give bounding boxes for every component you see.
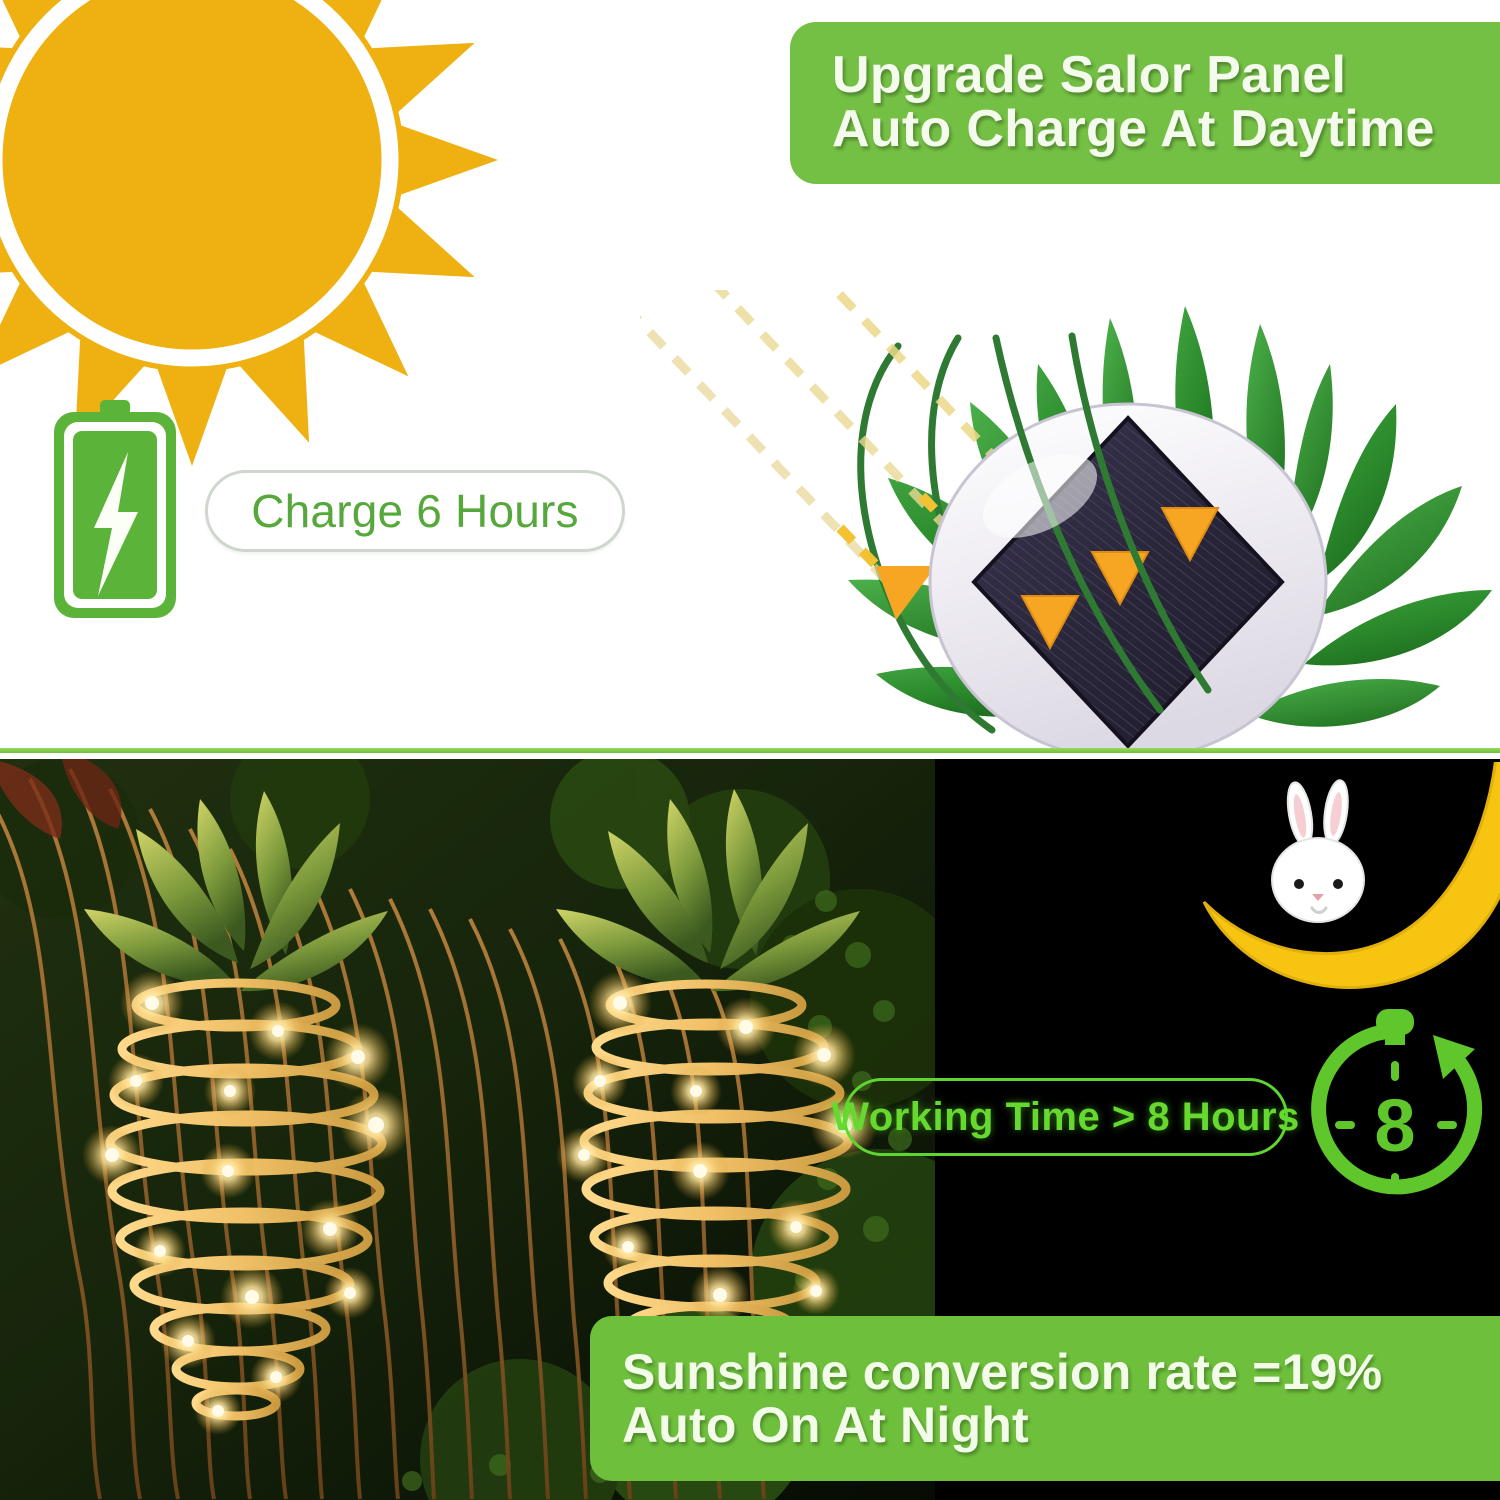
headline-line-2: Auto Charge At Daytime xyxy=(832,103,1500,157)
daytime-section: Upgrade Salor Panel Auto Charge At Dayti… xyxy=(0,0,1500,753)
battery-charging-icon xyxy=(50,400,180,622)
charge-time-badge: Charge 6 Hours xyxy=(205,470,625,552)
headline-banner: Upgrade Salor Panel Auto Charge At Dayti… xyxy=(790,22,1500,184)
footer-line-2: Auto On At Night xyxy=(622,1399,1500,1452)
headline-line-1: Upgrade Salor Panel xyxy=(832,49,1500,103)
charge-time-label: Charge 6 Hours xyxy=(251,484,579,538)
stopwatch-icon: 8 xyxy=(1293,1005,1498,1230)
solar-panel-product-image xyxy=(640,290,1500,753)
product-infographic: Upgrade Salor Panel Auto Charge At Dayti… xyxy=(0,0,1500,1500)
stopwatch-value: 8 xyxy=(1374,1084,1415,1167)
footer-banner: Sunshine conversion rate =19% Auto On At… xyxy=(590,1316,1500,1481)
section-divider xyxy=(0,748,1500,753)
working-time-label: Working Time > 8 Hours xyxy=(831,1095,1300,1140)
footer-line-1: Sunshine conversion rate =19% xyxy=(622,1346,1500,1399)
working-time-badge: Working Time > 8 Hours xyxy=(843,1078,1288,1156)
crescent-moon-with-rabbit-icon xyxy=(1168,762,1500,1017)
